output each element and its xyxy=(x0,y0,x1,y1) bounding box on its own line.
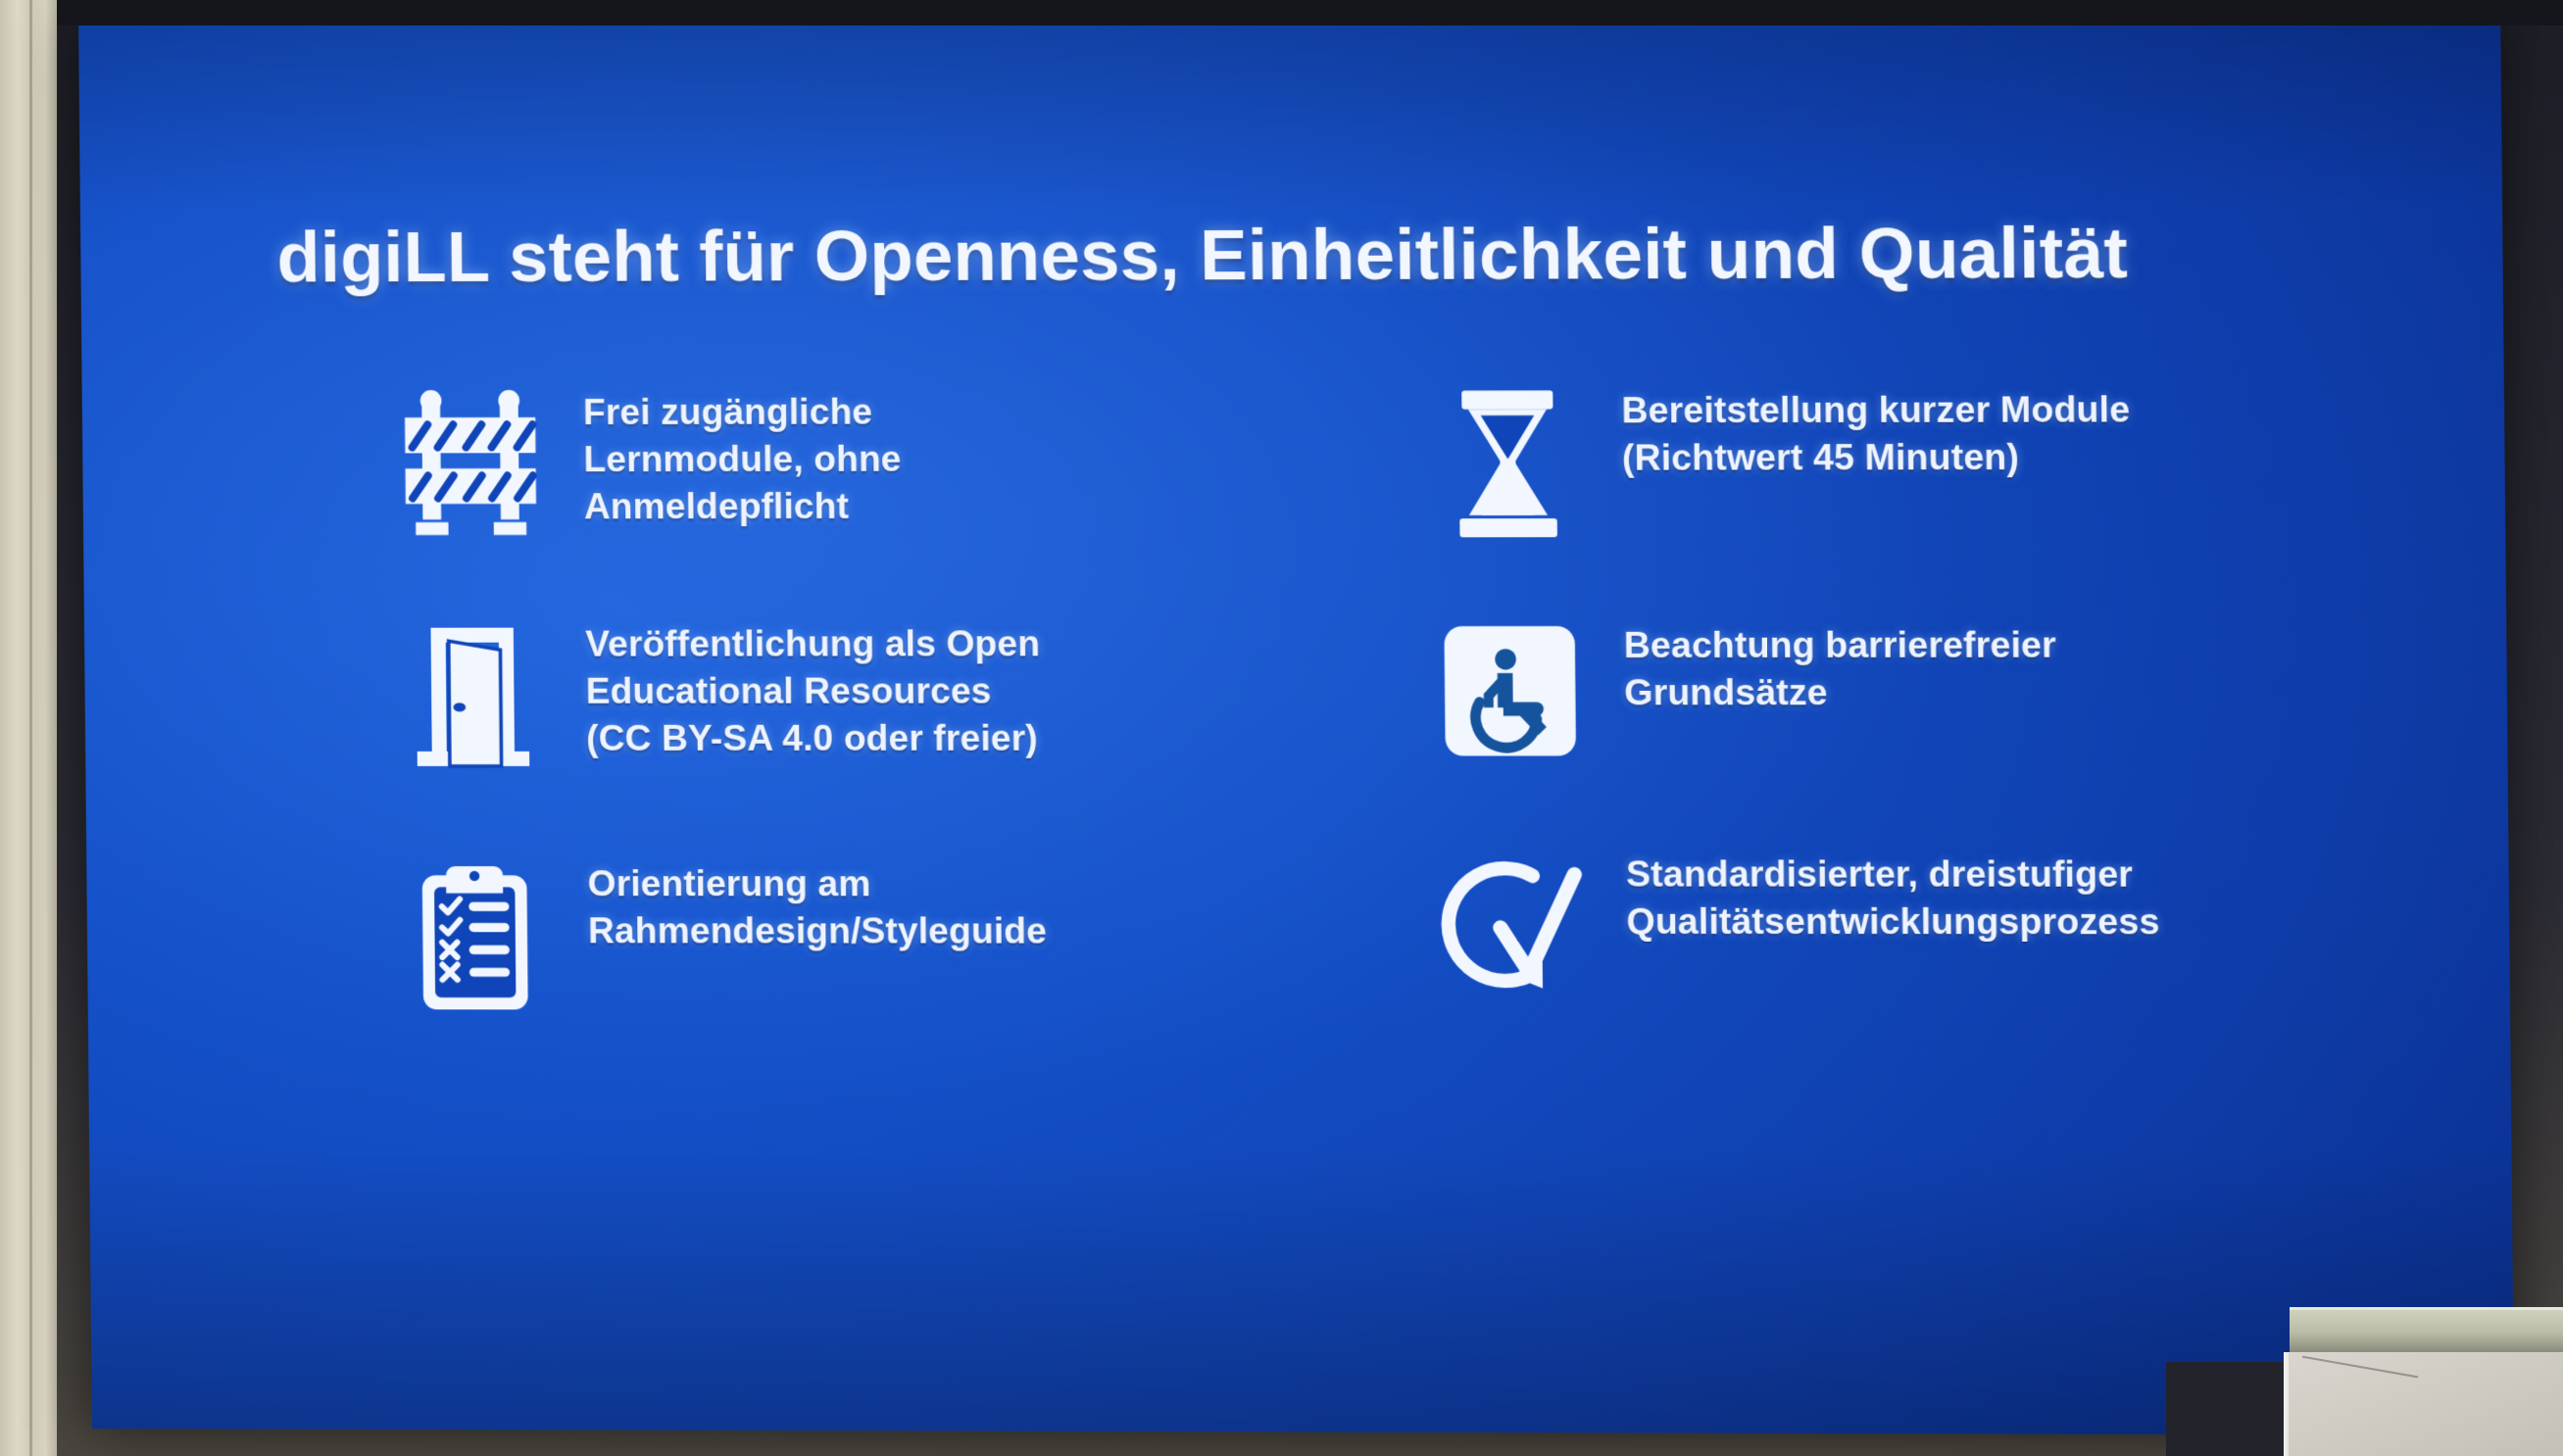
bullet-item: Bereitstellung kurzer Module (Richtwert … xyxy=(1393,386,2330,538)
bullet-line: Qualitätsentwicklungsprozess xyxy=(1626,898,2334,946)
bullet-line: Educational Resources xyxy=(585,667,1247,715)
bullet-item: Frei zugängliche Lernmodule, ohne Anmeld… xyxy=(357,388,1246,537)
bullet-item: Standardisierter, dreistufiger Qualitäts… xyxy=(1398,850,2335,999)
screen-corner-shadow xyxy=(2166,1362,2284,1456)
bullet-line: Orientierung am xyxy=(587,860,1249,908)
clipboard-checklist-icon xyxy=(362,860,589,1015)
bullet-line: Beachtung barrierefreier xyxy=(1624,621,2332,669)
wall-left-strip xyxy=(0,0,57,1456)
road-barrier-icon xyxy=(357,389,584,537)
wheelchair-accessibility-icon xyxy=(1396,622,1625,760)
bullet-text: Orientierung am Rahmendesign/Styleguide xyxy=(587,860,1250,955)
bullet-text: Frei zugängliche Lernmodule, ohne Anmeld… xyxy=(583,388,1246,531)
flipchart-paper xyxy=(2284,1352,2563,1456)
bullet-item: Beachtung barrierefreier Grundsätze xyxy=(1396,621,2333,760)
circular-arrow-checkmark-icon xyxy=(1398,850,1627,998)
slide-content: Frei zugängliche Lernmodule, ohne Anmeld… xyxy=(229,386,2390,390)
bullet-text: Standardisierter, dreistufiger Qualitäts… xyxy=(1626,850,2335,946)
bullet-line: Standardisierter, dreistufiger xyxy=(1626,850,2334,898)
flipchart-paper-edge xyxy=(2284,1352,2289,1456)
bullet-text: Bereitstellung kurzer Module (Richtwert … xyxy=(1621,386,2330,482)
bullet-line: Grundsätze xyxy=(1624,669,2332,717)
presentation-slide: digiLL steht für Openness, Einheitlichke… xyxy=(78,9,2514,1435)
projection-scene: digiLL steht für Openness, Einheitlichke… xyxy=(0,0,2563,1456)
bullet-item: Veröffentlichung als Open Educational Re… xyxy=(359,620,1248,770)
bullet-line: Lernmodule, ohne xyxy=(583,435,1245,483)
hourglass-icon xyxy=(1393,387,1622,537)
bullet-line: Rahmendesign/Styleguide xyxy=(588,907,1250,955)
bullet-item: Orientierung am Rahmendesign/Styleguide xyxy=(362,860,1251,1016)
bullet-text: Beachtung barrierefreier Grundsätze xyxy=(1624,621,2333,716)
flipchart-pad xyxy=(2284,1301,2563,1456)
slide-title: digiLL steht für Openness, Einheitlichke… xyxy=(276,214,2128,299)
bullet-line: Anmeldepflicht xyxy=(584,482,1246,530)
screen-top-shadow xyxy=(57,0,2563,25)
bullet-text: Veröffentlichung als Open Educational Re… xyxy=(585,620,1248,762)
bullet-line: Veröffentlichung als Open xyxy=(585,620,1247,668)
left-column: Frei zugängliche Lernmodule, ohne Anmeld… xyxy=(357,388,1251,1016)
right-column: Bereitstellung kurzer Module (Richtwert … xyxy=(1393,386,2335,999)
open-door-icon xyxy=(359,621,586,770)
bullet-line: (Richtwert 45 Minuten) xyxy=(1622,433,2330,482)
bullet-line: Frei zugängliche xyxy=(583,388,1245,436)
bullet-line: (CC BY-SA 4.0 oder freier) xyxy=(586,715,1248,762)
bullet-line: Bereitstellung kurzer Module xyxy=(1621,386,2329,435)
